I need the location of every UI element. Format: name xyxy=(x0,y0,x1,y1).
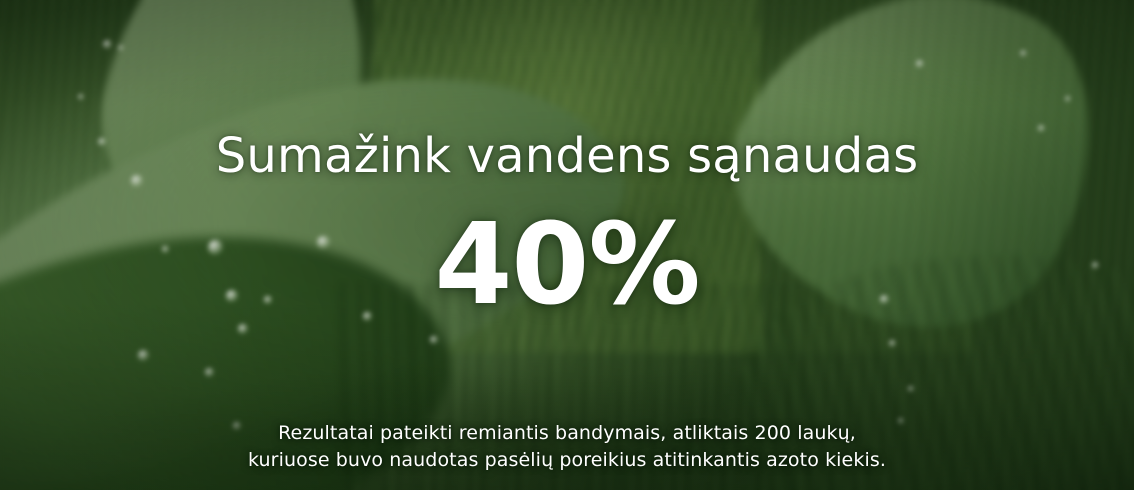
footnote-line-1: Rezultatai pateikti remiantis bandymais,… xyxy=(0,420,1134,448)
footnote: Rezultatai pateikti remiantis bandymais,… xyxy=(0,420,1134,475)
headline: Sumažink vandens sąnaudas xyxy=(0,131,1134,181)
banner-content: Sumažink vandens sąnaudas 40% Rezultatai… xyxy=(0,0,1134,490)
footnote-line-2: kuriuose buvo naudotas pasėlių poreikius… xyxy=(0,447,1134,475)
promo-banner: Sumažink vandens sąnaudas 40% Rezultatai… xyxy=(0,0,1134,490)
statistic-value: 40% xyxy=(0,209,1134,321)
